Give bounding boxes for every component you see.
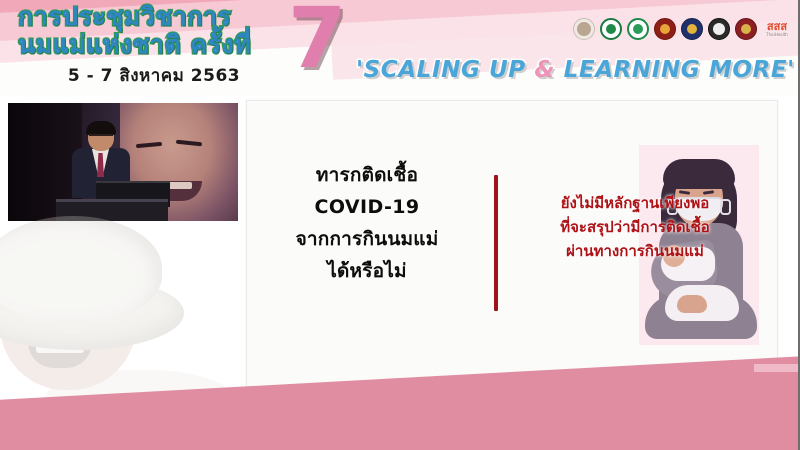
slogan-ampersand: &	[534, 57, 555, 83]
mother-hand	[677, 295, 707, 313]
logo-dark-red-crest	[735, 18, 757, 40]
logo-royal-seal	[573, 18, 595, 40]
logo-thaihealth-sss: สสส ThaiHealth	[762, 18, 792, 40]
presentation-slide[interactable]: ทารกติดเชื้อ COVID-19 จากการกินนมแม่ ได้…	[246, 100, 778, 400]
conference-slogan: 'SCALING UP & LEARNING MORE'	[356, 56, 795, 84]
slide-question-text: ทารกติดเชื้อ COVID-19 จากการกินนมแม่ ได้…	[267, 159, 467, 287]
edition-number-seven: 7	[288, 0, 346, 80]
question-line-4: ได้หรือไม่	[267, 255, 467, 287]
answer-line-1: ยังไม่มีหลักฐานเพียงพอ	[511, 191, 759, 215]
projected-baby-eye-right	[176, 140, 202, 147]
answer-line-3: ผ่านทางการกินนมแม่	[511, 239, 759, 263]
slogan-part-1: 'SCALING UP	[356, 57, 534, 83]
conference-date: 5 - 7 สิงหาคม 2563	[18, 62, 290, 89]
speaker-camera-feed[interactable]	[8, 103, 238, 221]
conference-header-banner: การประชุมวิชาการ นมแม่แห่งชาติ ครั้งที่ …	[0, 0, 800, 96]
question-line-1: ทารกติดเชื้อ	[267, 159, 467, 191]
mother-hair-front	[663, 159, 735, 189]
slogan-part-2: LEARNING MORE'	[555, 57, 795, 83]
conference-title-block: การประชุมวิชาการ นมแม่แห่งชาติ ครั้งที่ …	[18, 2, 318, 89]
question-line-2-covid: COVID-19	[267, 191, 467, 223]
logo-department-of-health-green	[627, 18, 649, 40]
child-hat-crown	[0, 216, 162, 320]
logo-navy-gold-crest	[681, 18, 703, 40]
logo-black-white-seal	[708, 18, 730, 40]
slide-presentation-screenshot: การประชุมวิชาการ นมแม่แห่งชาติ ครั้งที่ …	[0, 0, 800, 450]
conference-title-line-1: การประชุมวิชาการ	[18, 2, 318, 32]
question-line-3: จากการกินนมแม่	[267, 223, 467, 255]
logo-thai-emblem-red	[654, 18, 676, 40]
answer-line-2: ที่จะสรุปว่ามีการติดเชื้อ	[511, 215, 759, 239]
conference-title-line-2: นมแม่แห่งชาติ ครั้งที่	[18, 30, 318, 60]
slide-answer-text: ยังไม่มีหลักฐานเพียงพอ ที่จะสรุปว่ามีการ…	[511, 191, 759, 263]
sponsor-logo-row: สสส ThaiHealth	[573, 18, 792, 40]
red-vertical-divider	[494, 175, 498, 311]
speaker-glasses	[89, 134, 113, 139]
logo-thaihealth-text: สสส	[767, 21, 787, 32]
logo-ministry-of-public-health-green	[600, 18, 622, 40]
footer-right-pink-block	[754, 372, 800, 450]
projected-baby-eye-left	[136, 142, 162, 148]
speaker-hair	[86, 121, 116, 135]
logo-thaihealth-subtext: ThaiHealth	[766, 32, 788, 37]
